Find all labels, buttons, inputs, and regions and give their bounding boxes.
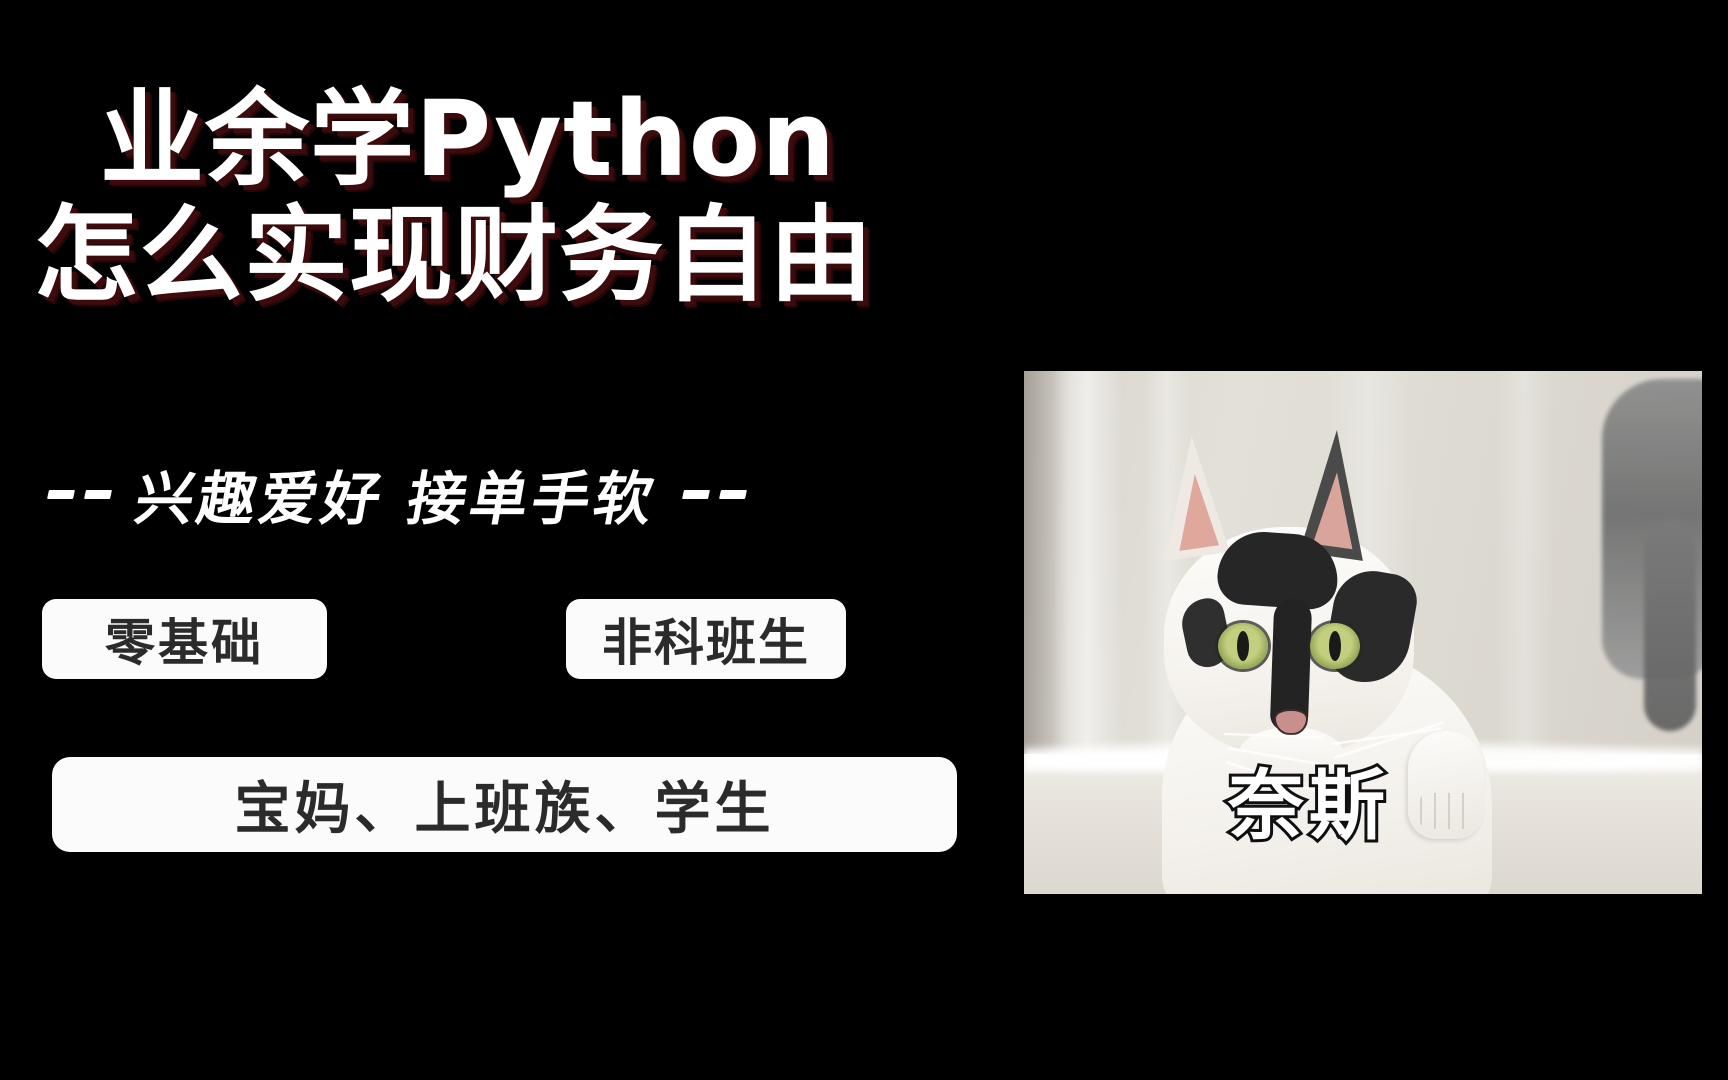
tag-label: 零基础 bbox=[105, 603, 264, 675]
headline-block: 业余学Python 怎么实现财务自由 bbox=[34, 86, 1044, 308]
right-dash-ornament-icon bbox=[682, 490, 747, 499]
tag-pill-zero-basis: 零基础 bbox=[42, 599, 327, 679]
dash-mark bbox=[47, 490, 75, 499]
tag-pill-audience: 宝妈、上班族、学生 bbox=[52, 757, 957, 852]
subtitle-text: 兴趣爱好 接单手软 bbox=[130, 452, 665, 536]
tag-label: 非科班生 bbox=[602, 603, 810, 675]
photo-caption: 奈斯 bbox=[1228, 744, 1390, 854]
poster-canvas: 业余学Python 怎么实现财务自由 兴趣爱好 接单手软 零基础 非科班生 宝妈… bbox=[0, 0, 1728, 1080]
left-dash-ornament-icon bbox=[47, 490, 112, 499]
cat-photo: 奈斯 bbox=[1024, 371, 1702, 894]
dash-mark bbox=[682, 490, 710, 499]
cat-eye-right bbox=[1310, 623, 1360, 669]
dash-mark bbox=[84, 490, 112, 499]
secondary-cat-tail bbox=[1644, 521, 1696, 731]
headline-line-1: 业余学Python bbox=[100, 86, 1044, 192]
headline-line-2: 怎么实现财务自由 bbox=[34, 202, 1044, 308]
dash-mark bbox=[719, 490, 747, 499]
subtitle-row: 兴趣爱好 接单手软 bbox=[48, 452, 746, 536]
tag-pill-non-major: 非科班生 bbox=[566, 599, 846, 679]
cat-thumbs-up-paw bbox=[1408, 731, 1484, 839]
tag-label: 宝妈、上班族、学生 bbox=[235, 764, 775, 845]
cat-eye-left bbox=[1218, 623, 1268, 669]
cat-ear-left bbox=[1148, 433, 1230, 561]
